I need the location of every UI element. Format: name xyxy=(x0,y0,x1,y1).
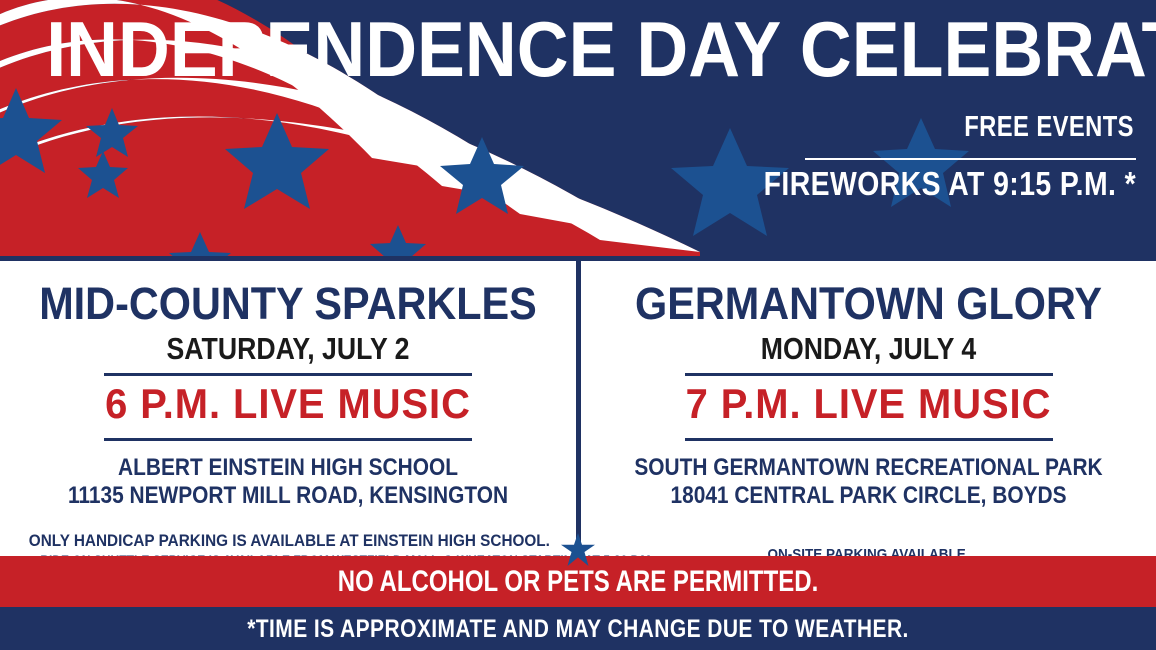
rules-banner-text: NO ALCOHOL OR PETS ARE PERMITTED. xyxy=(116,564,1041,600)
disclaimer-banner: *TIME IS APPROXIMATE AND MAY CHANGE DUE … xyxy=(0,607,1156,650)
fireworks-time-label: FIREWORKS AT 9:15 P.M. * xyxy=(764,166,1136,202)
free-events-label: FREE EVENTS xyxy=(964,112,1134,143)
event-venue: SOUTH GERMANTOWN RECREATIONAL PARK xyxy=(618,454,1118,482)
event-rule-bottom-wrap xyxy=(685,438,1053,441)
event-name: MID-COUNTY SPARKLES xyxy=(23,279,553,329)
event-address: 18041 CENTRAL PARK CIRCLE, BOYDS xyxy=(618,482,1118,510)
event-parking-note: ONLY HANDICAP PARKING IS AVAILABLE AT EI… xyxy=(29,530,547,551)
event-time: 7 P.M. LIVE MUSIC xyxy=(595,376,1141,432)
event-rule-bottom-wrap xyxy=(104,438,472,441)
poster-header: INDEPENDENCE DAY CELEBRATIONS FREE EVENT… xyxy=(0,0,1156,256)
event-venue: ALBERT EINSTEIN HIGH SCHOOL xyxy=(37,454,538,482)
event-address: 11135 NEWPORT MILL ROAD, KENSINGTON xyxy=(37,482,538,510)
events-section: MID-COUNTY SPARKLES SATURDAY, JULY 2 6 P… xyxy=(0,256,1156,556)
event-time: 6 P.M. LIVE MUSIC xyxy=(14,376,561,432)
header-divider-rule xyxy=(805,158,1136,160)
independence-day-poster: INDEPENDENCE DAY CELEBRATIONS FREE EVENT… xyxy=(0,0,1156,650)
disclaimer-banner-text: *TIME IS APPROXIMATE AND MAY CHANGE DUE … xyxy=(92,614,1063,644)
event-rule-bottom xyxy=(685,438,1053,441)
event-rule-bottom xyxy=(104,438,472,441)
poster-title: INDEPENDENCE DAY CELEBRATIONS xyxy=(46,6,1110,92)
event-date: SATURDAY, JULY 2 xyxy=(40,331,535,367)
event-name: GERMANTOWN GLORY xyxy=(604,279,1133,329)
event-panel-mid-county-sparkles: MID-COUNTY SPARKLES SATURDAY, JULY 2 6 P… xyxy=(0,261,576,556)
event-panel-germantown-glory: GERMANTOWN GLORY MONDAY, JULY 4 7 P.M. L… xyxy=(581,261,1156,556)
rules-banner: NO ALCOHOL OR PETS ARE PERMITTED. xyxy=(0,556,1156,607)
event-date: MONDAY, JULY 4 xyxy=(621,331,1116,367)
